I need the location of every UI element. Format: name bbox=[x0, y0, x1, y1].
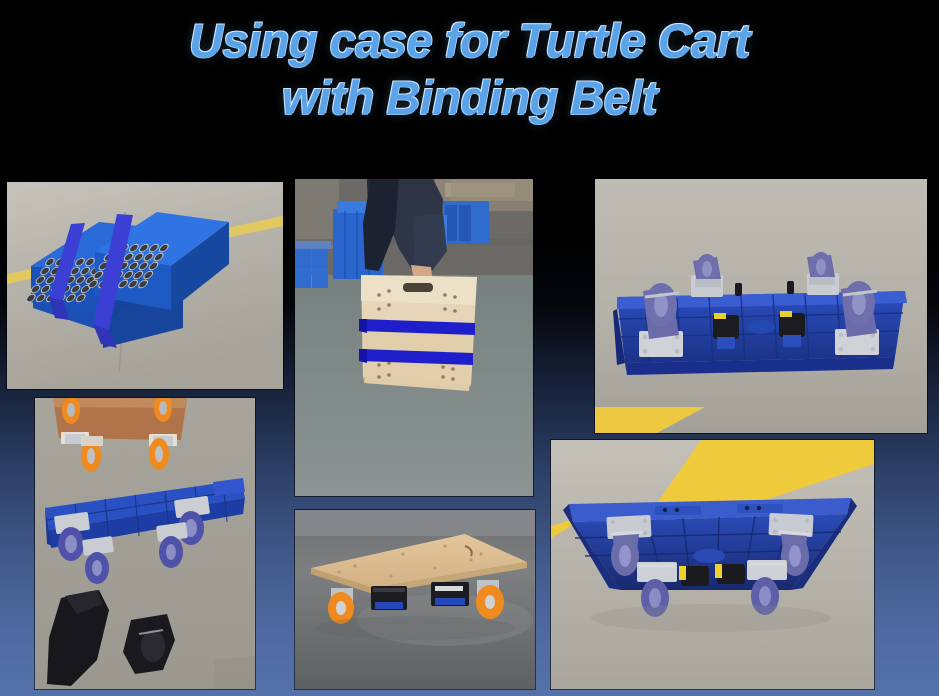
photo-worker-carrying-decks bbox=[295, 179, 533, 496]
photo-blue-deck-underside bbox=[551, 440, 874, 689]
slide-canvas: Using case for Turtle Cart with Binding … bbox=[0, 0, 939, 696]
photo-blue-deck-casters-top bbox=[595, 179, 927, 433]
photo-crates-strapped bbox=[7, 182, 283, 389]
title-line-1: Using case for Turtle Cart bbox=[0, 12, 939, 69]
photo-wood-and-blue-carts bbox=[35, 398, 255, 689]
page-title: Using case for Turtle Cart with Binding … bbox=[0, 12, 939, 126]
photo-plywood-cart-side bbox=[295, 510, 535, 689]
title-line-2: with Binding Belt bbox=[0, 69, 939, 126]
